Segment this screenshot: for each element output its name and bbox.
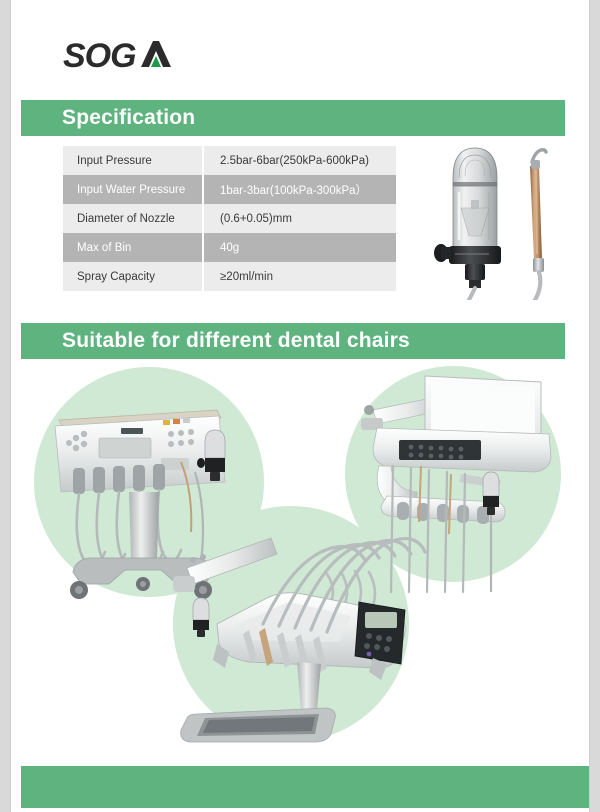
compatibility-banner-title: Suitable for different dental chairs: [62, 329, 410, 353]
specification-table: Input Pressure 2.5bar-6bar(250kPa-600kPa…: [63, 146, 396, 291]
spec-label: Diameter of Nozzle: [63, 204, 203, 233]
specification-banner-title: Specification: [62, 106, 195, 130]
air-polisher-illustration: [431, 140, 571, 300]
spec-value: 40g: [203, 233, 396, 262]
spec-label: Spray Capacity: [63, 262, 203, 291]
dental-chair-photo-collage: [21, 362, 581, 752]
table-row: Spray Capacity ≥20ml/min: [63, 262, 396, 291]
footer-bar: [21, 766, 589, 808]
table-row: Input Pressure 2.5bar-6bar(250kPa-600kPa…: [63, 146, 396, 175]
soga-logo: SOG: [63, 38, 303, 78]
compatibility-banner: Suitable for different dental chairs: [21, 323, 565, 359]
air-polisher-unit-photo: [431, 140, 571, 300]
spec-value: ≥20ml/min: [203, 262, 396, 291]
table-row: Input Water Pressure 1bar-3bar(100kPa-30…: [63, 175, 396, 204]
spec-value: 1bar-3bar(100kPa-300kPa）: [203, 175, 396, 204]
logo-a-glyph: [141, 41, 171, 67]
spec-label: Input Pressure: [63, 146, 203, 175]
collage-illustration: [21, 362, 581, 752]
table-row: Diameter of Nozzle (0.6+0.05)mm: [63, 204, 396, 233]
spec-value: 2.5bar-6bar(250kPa-600kPa): [203, 146, 396, 175]
table-row: Max of Bin 40g: [63, 233, 396, 262]
soga-logo-mark: SOG: [63, 38, 303, 78]
product-spec-page: SOG Specification Input Pressure: [0, 0, 600, 812]
svg-text:SOG: SOG: [63, 38, 136, 75]
specification-banner: Specification: [21, 100, 565, 136]
spec-value: (0.6+0.05)mm: [203, 204, 396, 233]
spec-label: Max of Bin: [63, 233, 203, 262]
page-sheet: SOG Specification Input Pressure: [11, 0, 589, 812]
spec-label: Input Water Pressure: [63, 175, 203, 204]
